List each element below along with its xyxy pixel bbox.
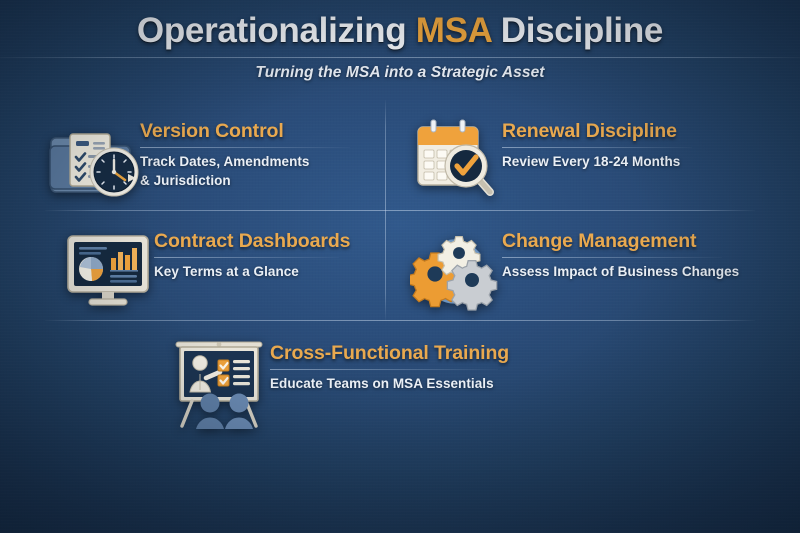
card-text-version-control: Version Control Track Dates, Amendments … bbox=[140, 112, 350, 190]
card-version-control[interactable]: Version Control Track Dates, Amendments … bbox=[48, 112, 350, 204]
card-description: Assess Impact of Business Changes bbox=[502, 263, 739, 282]
card-title: Change Management bbox=[502, 230, 739, 253]
page-title: Operationalizing MSA Discipline bbox=[0, 11, 800, 51]
card-title-underline bbox=[502, 257, 722, 258]
title-segment-post: Discipline bbox=[491, 11, 663, 50]
card-description: Educate Teams on MSA Essentials bbox=[270, 375, 509, 394]
card-title-underline bbox=[502, 147, 692, 148]
title-highlight-msa: MSA bbox=[416, 11, 492, 50]
presentation-board-audience-icon bbox=[168, 334, 270, 434]
page-subtitle: Turning the MSA into a Strategic Asset bbox=[0, 64, 800, 82]
card-text-renewal-discipline: Renewal Discipline Review Every 18-24 Mo… bbox=[502, 112, 692, 172]
gears-cycle-icon bbox=[410, 222, 502, 314]
card-text-change-management: Change Management Assess Impact of Busin… bbox=[502, 222, 739, 282]
card-change-management[interactable]: Change Management Assess Impact of Busin… bbox=[410, 222, 739, 314]
grid-divider-horizontal-1 bbox=[45, 210, 755, 211]
card-title-underline bbox=[140, 147, 350, 148]
calendar-magnifier-check-icon bbox=[410, 112, 502, 204]
grid-divider-vertical bbox=[385, 100, 386, 320]
card-title-underline bbox=[270, 369, 498, 370]
title-segment-pre: Operationalizing bbox=[137, 11, 416, 50]
card-text-cross-functional-training: Cross-Functional Training Educate Teams … bbox=[270, 334, 509, 394]
card-contract-dashboards[interactable]: Contract Dashboards Key Terms at a Glanc… bbox=[62, 222, 350, 314]
card-title-underline bbox=[154, 257, 339, 258]
slide-header: Operationalizing MSA Discipline Turning … bbox=[0, 0, 800, 82]
card-title: Renewal Discipline bbox=[502, 120, 692, 143]
slide-canvas: Operationalizing MSA Discipline Turning … bbox=[0, 0, 800, 533]
card-title: Version Control bbox=[140, 120, 350, 143]
card-title: Contract Dashboards bbox=[154, 230, 350, 253]
card-description: Track Dates, Amendments & Jurisdiction bbox=[140, 153, 350, 190]
folder-checklist-clock-icon bbox=[48, 112, 140, 204]
card-text-contract-dashboards: Contract Dashboards Key Terms at a Glanc… bbox=[154, 222, 350, 282]
card-description: Key Terms at a Glance bbox=[154, 263, 350, 282]
card-renewal-discipline[interactable]: Renewal Discipline Review Every 18-24 Mo… bbox=[410, 112, 692, 204]
card-cross-functional-training[interactable]: Cross-Functional Training Educate Teams … bbox=[168, 334, 509, 434]
grid-divider-horizontal-2 bbox=[45, 320, 755, 321]
card-title: Cross-Functional Training bbox=[270, 342, 509, 365]
monitor-charts-icon bbox=[62, 222, 154, 314]
card-description: Review Every 18-24 Months bbox=[502, 153, 692, 172]
